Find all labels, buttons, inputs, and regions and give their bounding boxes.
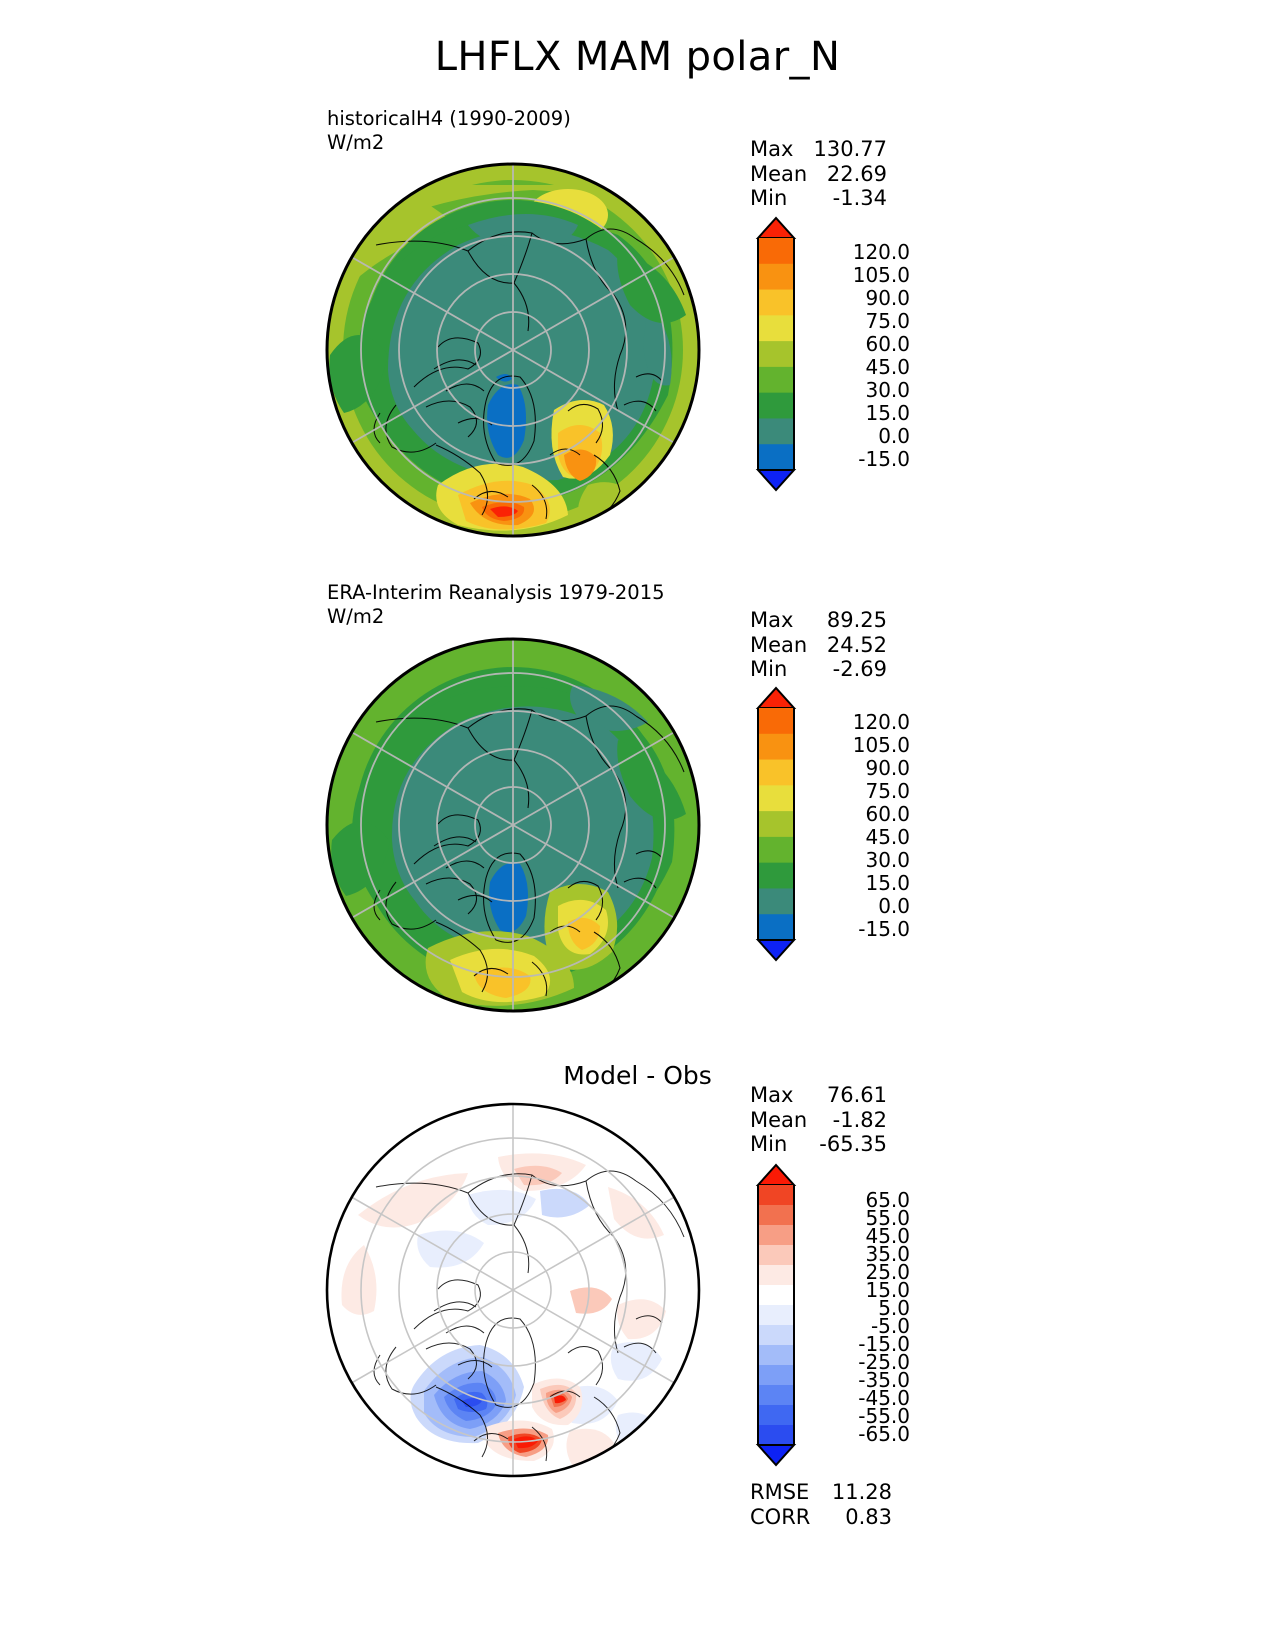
stat-row: Max76.61: [750, 1083, 887, 1108]
polar-map-obs: [318, 630, 708, 1020]
colorbar-difference-labels: 65.0 55.0 45.0 35.0 25.0 15.0 5.0 -5.0 -…: [790, 1165, 910, 1465]
colorbar-obs-labels: 120.0 105.0 90.0 75.0 60.0 45.0 30.0 15.…: [790, 688, 910, 960]
polar-map-model: [318, 155, 708, 545]
stat-row: Mean-1.82: [750, 1108, 887, 1133]
colorbar-model-labels: 120.0 105.0 90.0 75.0 60.0 45.0 30.0 15.…: [790, 218, 910, 490]
panel-difference: Model - Obs Max76.61 Mean-1.82 Min-65.35: [0, 1055, 1275, 1650]
polar-map-difference: [318, 1095, 708, 1485]
panel-obs: ERA-Interim Reanalysis 1979-2015 W/m2 Ma…: [0, 560, 1275, 1060]
stat-row: Max89.25: [750, 608, 887, 633]
panel-obs-title: ERA-Interim Reanalysis 1979-2015: [327, 580, 665, 605]
panel-obs-stats-block: Max89.25 Mean24.52 Min-2.69: [750, 608, 887, 682]
footer-row: CORR0.83: [750, 1505, 892, 1530]
footer-row: RMSE11.28: [750, 1480, 892, 1505]
stat-row: Max130.77: [750, 137, 887, 162]
panel-obs-units: W/m2: [327, 605, 384, 628]
panel-difference-stats: Max76.61 Mean-1.82 Min-65.35: [750, 1083, 887, 1157]
panel-model-stats: Max130.77 Mean22.69 Min-1.34: [750, 137, 887, 211]
stat-row: Min-2.69: [750, 657, 887, 682]
stat-row: Mean22.69: [750, 162, 887, 187]
panel-model-title: historicalH4 (1990-2009): [327, 106, 571, 131]
panel-model-units: W/m2: [327, 131, 384, 154]
stat-row: Mean24.52: [750, 633, 887, 658]
stat-row: Min-1.34: [750, 186, 887, 211]
figure-canvas: LHFLX MAM polar_N historicalH4 (1990-200…: [0, 0, 1275, 1650]
panel-model: historicalH4 (1990-2009) W/m2 Max130.77 …: [0, 0, 1275, 560]
stat-row: Min-65.35: [750, 1132, 887, 1157]
panel-difference-title: Model - Obs: [0, 1063, 1275, 1088]
panel-difference-footer: RMSE11.28 CORR0.83: [750, 1480, 892, 1529]
